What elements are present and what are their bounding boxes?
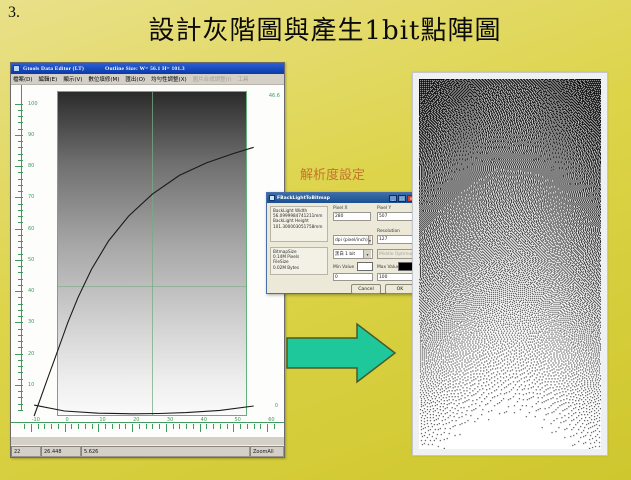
x-tick-label: 60 <box>268 417 274 423</box>
pixel-y-input[interactable]: 507 <box>377 212 415 221</box>
resolution-label: Resolution <box>377 229 400 234</box>
min-value-label: Min Value <box>333 265 354 270</box>
y-tick-label: 60 <box>28 226 34 232</box>
app-titlebar[interactable]: Gtools Data Editor (LT) Outline Size: W=… <box>11 63 284 74</box>
min-color-swatch[interactable] <box>357 262 373 271</box>
dialog-body: BackLight Width 56.0999984741211mm BackL… <box>267 203 417 295</box>
crosshair-horizontal <box>58 286 246 287</box>
grayscale-gradient-image[interactable] <box>57 91 247 416</box>
chevron-down-icon[interactable]: ▾ <box>368 236 371 244</box>
pixel-x-label: Pixel X <box>333 206 348 211</box>
optimum-value: Middle Optimum <box>379 250 415 259</box>
x-tick-label: 10 <box>99 417 105 423</box>
optimum-select: Middle Optimum ▾ <box>377 249 415 259</box>
y-tick-label: 90 <box>28 132 34 138</box>
backlight-to-bitmap-dialog[interactable]: FBackLightToBitmap _ □ ✕ BackLight Width… <box>266 192 418 294</box>
status-cell-zoom[interactable]: ZoomAll <box>250 446 284 457</box>
menu-item-edit[interactable]: 編輯(E) <box>39 75 58 83</box>
max-value-input[interactable]: 100 <box>377 273 415 281</box>
app-menubar[interactable]: 檔案(D) 編輯(E) 顯示(V) 數位填修(M) 匯出(O) 均勻性調整(X)… <box>11 74 284 85</box>
ok-button[interactable]: OK <box>385 284 415 294</box>
app-window-title: Gtools Data Editor (LT) <box>23 66 84 72</box>
menu-item-digital-retouch[interactable]: 數位填修(M) <box>88 75 119 83</box>
app-icon <box>13 65 20 72</box>
color-depth-value: 黑白 1 bit <box>335 250 355 259</box>
crosshair-vertical <box>152 92 153 415</box>
status-cell-1: 22 <box>11 446 41 457</box>
right-axis-max-label: 46.6 <box>269 93 280 99</box>
status-cell-3: 5.626 <box>81 446 250 457</box>
y-tick-label: 100 <box>28 101 38 107</box>
maximize-icon[interactable]: □ <box>398 195 406 202</box>
dialog-titlebar[interactable]: FBackLightToBitmap _ □ ✕ <box>267 193 417 203</box>
x-tick-label: 40 <box>201 417 207 423</box>
y-tick-label: 30 <box>28 319 34 325</box>
bitmap-info-text: BitmapSize 0.14M Pixels FileSize 0.02M B… <box>273 249 299 270</box>
y-tick-label: 10 <box>28 382 34 388</box>
dialog-icon <box>269 195 275 201</box>
gtools-data-editor-window[interactable]: Gtools Data Editor (LT) Outline Size: W=… <box>10 62 285 458</box>
menu-item-file[interactable]: 檔案(D) <box>13 75 33 83</box>
menu-item-uniformity[interactable]: 均勻性調整(X) <box>151 75 187 83</box>
chart-canvas[interactable]: 0102030405060708090100 -100102030405060 … <box>11 85 284 437</box>
minimize-icon[interactable]: _ <box>389 195 397 202</box>
y-tick-label: 20 <box>28 351 34 357</box>
process-arrow-icon <box>285 322 397 384</box>
x-tick-label: 50 <box>234 417 240 423</box>
app-statusbar: 22 26.448 5.626 ZoomAll <box>11 445 284 457</box>
y-tick-label: 70 <box>28 194 34 200</box>
x-tick-label: -10 <box>32 417 40 423</box>
backlight-info-text: BackLight Width 56.0999984741211mm BackL… <box>273 208 322 229</box>
unit-select-value: dpi (pixel/inch) <box>335 236 368 245</box>
resolution-annotation: 解析度設定 <box>300 164 365 183</box>
y-tick-label: 80 <box>28 163 34 169</box>
x-tick-label: 0 <box>66 417 69 423</box>
backlight-info-group: BackLight Width 56.0999984741211mm BackL… <box>270 206 328 242</box>
unit-select[interactable]: dpi (pixel/inch) ▾ <box>333 235 373 245</box>
menu-item-image-composite: 圖片合成調整(I) <box>193 75 232 83</box>
resolution-input[interactable]: 127 <box>377 235 415 244</box>
cancel-button[interactable]: Cancel <box>351 284 381 294</box>
min-value-input[interactable]: 0 <box>333 273 373 281</box>
menu-item-tools: 工具 <box>238 75 249 83</box>
menu-item-export[interactable]: 匯出(O) <box>125 75 145 83</box>
dithered-bitmap-image <box>419 79 601 449</box>
pixel-x-input[interactable]: 280 <box>333 212 371 221</box>
chevron-down-icon[interactable]: ▾ <box>363 250 371 258</box>
status-cell-2: 26.448 <box>41 446 81 457</box>
y-tick-label: 50 <box>28 257 34 263</box>
y-tick-label: 40 <box>28 288 34 294</box>
menu-item-view[interactable]: 顯示(V) <box>63 75 82 83</box>
dialog-title: FBackLightToBitmap <box>277 196 389 201</box>
x-tick-label: 20 <box>133 417 139 423</box>
max-value-label: Max Value <box>377 265 400 270</box>
bitmap-info-group: BitmapSize 0.14M Pixels FileSize 0.02M B… <box>270 247 328 275</box>
x-tick-label: 30 <box>167 417 173 423</box>
pixel-y-label: Pixel Y <box>377 206 391 211</box>
color-depth-select[interactable]: 黑白 1 bit ▾ <box>333 249 373 259</box>
right-axis-min-label: 0 <box>275 403 278 409</box>
bitmap-preview-panel[interactable] <box>412 72 608 456</box>
outline-size-readout: Outline Size: W= 56.1 H= 101.3 <box>105 66 185 72</box>
slide-number: 3. <box>8 4 20 22</box>
page-title: 設計灰階圖與產生1bit點陣圖 <box>90 10 560 47</box>
